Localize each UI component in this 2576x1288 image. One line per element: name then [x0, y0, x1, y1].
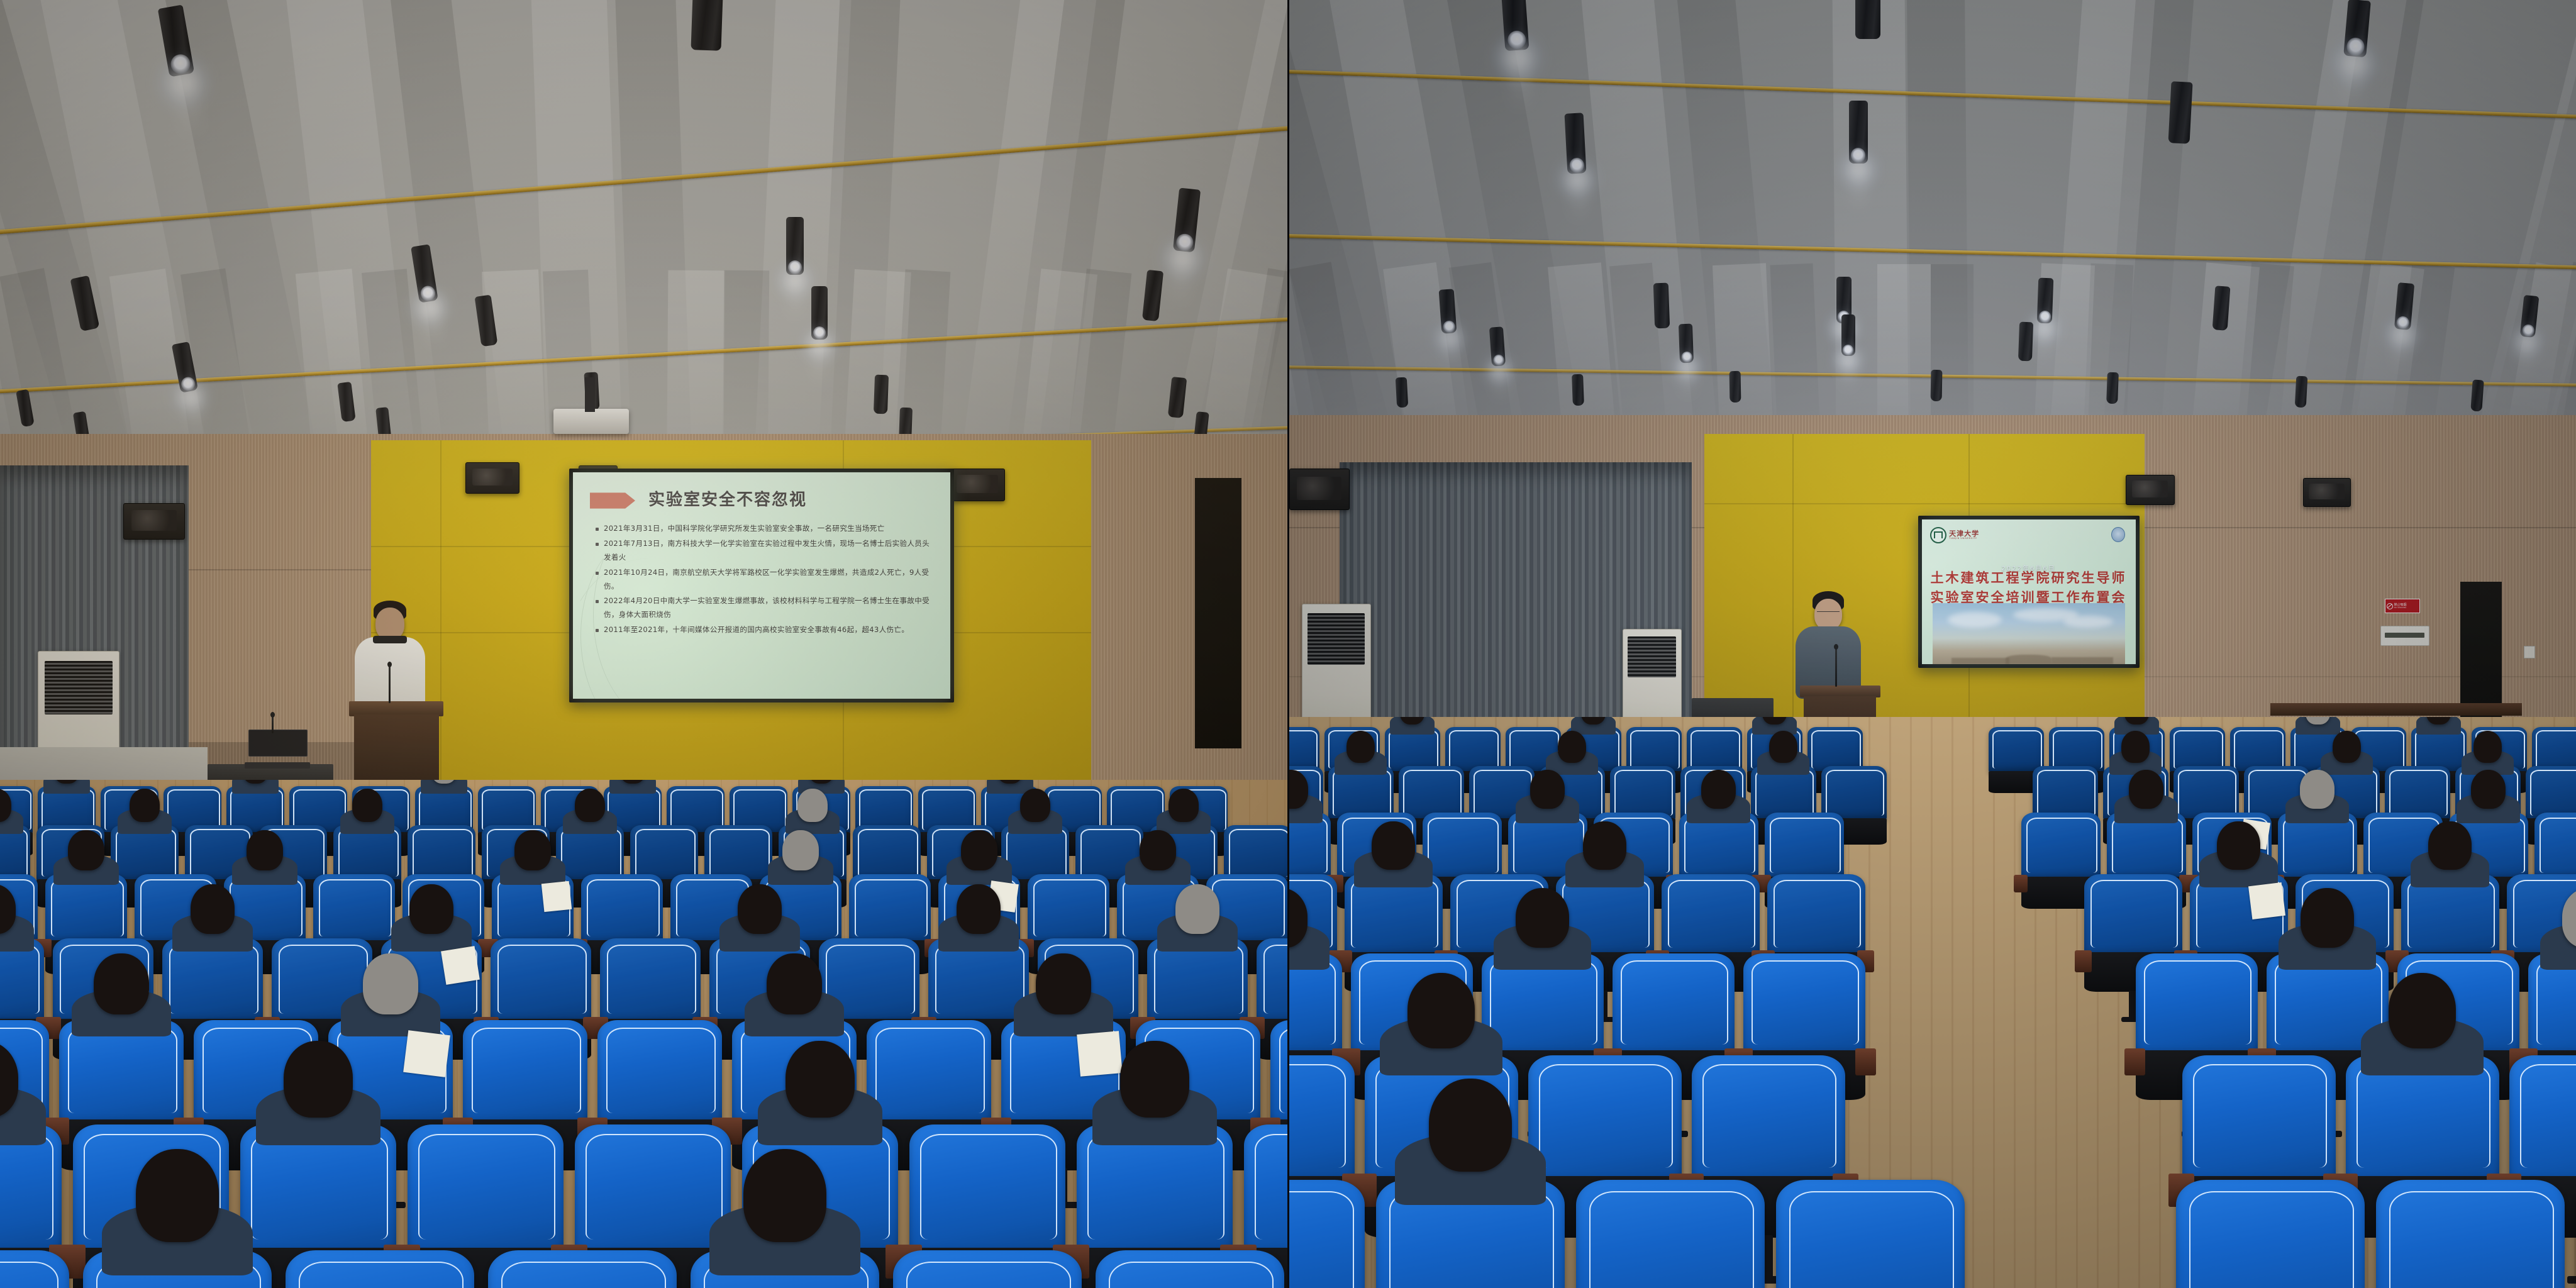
attendee-head [2217, 821, 2260, 870]
downlight-housing [2212, 286, 2230, 331]
downlight-bulb [788, 260, 802, 274]
seat-piping [42, 789, 94, 830]
attendee-head [136, 1149, 219, 1242]
slide-decoration [580, 558, 709, 699]
seat-piping [1033, 879, 1106, 937]
downlight-housing [1729, 371, 1741, 402]
left-room: 实验室安全不容忽视 2021年3月31日，中国科学院化学研究所发生实验室安全事故… [0, 0, 1287, 1288]
downlight-beam [1443, 333, 1458, 373]
seat-piping [2144, 960, 2251, 1044]
downlight-bulb [2038, 311, 2050, 323]
seat-piping [251, 1134, 387, 1240]
seat-piping [935, 945, 1024, 1014]
seat-piping [2193, 1064, 2328, 1168]
seat-piping [1702, 1064, 1837, 1168]
left-wall-speaker [950, 469, 1005, 501]
seat-piping [2112, 818, 2182, 873]
attendee-head [797, 789, 828, 822]
attendee-head [2473, 731, 2502, 763]
auditorium-seat[interactable] [1613, 953, 1735, 1057]
ac-grill [45, 661, 113, 714]
seat-piping [855, 879, 928, 937]
seat-piping [1289, 730, 1318, 769]
seat-piping [2540, 818, 2576, 873]
ceiling-downlight [1729, 371, 1741, 402]
auditorium-seat[interactable] [2021, 813, 2101, 880]
left-projection-screen: 实验室安全不容忽视 2021年3月31日，中国科学院化学研究所发生实验室安全事故… [573, 472, 950, 699]
seat-piping [670, 789, 723, 830]
seat-piping [2536, 730, 2576, 769]
seat-piping [1614, 770, 1673, 815]
university-name-en: TIANJIN UNIVERSITY [1949, 537, 1979, 540]
seat-piping [733, 789, 786, 830]
handout-paper [541, 881, 572, 912]
slide-date: 2022年6月6日 [1922, 563, 2136, 572]
downlight-beam [1493, 365, 1507, 402]
seat-piping [875, 1028, 985, 1113]
downlight-housing [1930, 370, 1942, 401]
downlight-beam [1507, 50, 1532, 113]
attendee-head [2389, 973, 2456, 1048]
seat-piping [1811, 730, 1862, 769]
auditorium-seat[interactable] [0, 1250, 69, 1288]
speaker-collar [373, 636, 407, 643]
secondary-seal-icon [2111, 527, 2125, 542]
auditorium-seat[interactable] [581, 874, 663, 945]
ceiling-downlight [1849, 101, 1868, 164]
downlight-beam [788, 275, 803, 321]
ac-grill [1307, 613, 1365, 665]
seat-piping [2530, 770, 2576, 815]
seat-piping [920, 1134, 1057, 1240]
right-side-table [2270, 703, 2522, 716]
left-projection-screen-frame: 实验室安全不容忽视 2021年3月31日，中国科学院化学研究所发生实验室安全事故… [569, 469, 954, 702]
downlight-housing [2294, 376, 2307, 408]
attendee-head [767, 953, 821, 1015]
left-wall-wood-right [1091, 434, 1288, 824]
attendee-head [352, 789, 382, 822]
seat-piping [1789, 1191, 1954, 1288]
seat-piping [1826, 770, 1884, 815]
ceiling-downlight [786, 217, 804, 275]
seat-piping [906, 1262, 1071, 1288]
ceiling-downlight [2343, 0, 2371, 57]
photo-collage: 实验室安全不容忽视 2021年3月31日，中国科学院化学研究所发生实验室安全事故… [0, 0, 2576, 1288]
seat-piping [482, 789, 534, 830]
right-wall-speaker [1289, 469, 1350, 510]
auditorium-seat[interactable] [2509, 1055, 2576, 1184]
ceiling-downlight [1653, 283, 1669, 329]
seat-piping [1770, 818, 1840, 873]
seat-piping [1229, 829, 1287, 877]
seat-piping [299, 1262, 464, 1288]
seat-piping [1752, 960, 1859, 1044]
right-speaker [1792, 591, 1865, 701]
slide-title-block: 土木建筑工程学院研究生导师 实验室安全培训暨工作布置会 [1931, 569, 2127, 607]
attendee-head [1530, 770, 1565, 809]
left-seating-area [0, 780, 1287, 1288]
ceiling-downlight [811, 286, 828, 340]
downlight-housing [1572, 374, 1584, 406]
speaker-glasses-icon [1817, 611, 1840, 616]
seat-piping [2178, 770, 2236, 815]
attendee-head [743, 1149, 826, 1242]
seat-piping [606, 1028, 716, 1113]
attendee-head [782, 830, 818, 870]
seat-piping [2173, 730, 2224, 769]
left-wall-speaker [123, 503, 185, 540]
no-smoking-sublabel: NO SMOKING [2394, 607, 2407, 609]
attendee-head [1372, 821, 1415, 870]
attendee-head [1020, 789, 1050, 822]
ceiling-downlight [691, 0, 723, 51]
seat-armrest [1855, 1048, 1876, 1075]
seat-piping [586, 1134, 722, 1240]
right-wall-electrical-box [2380, 626, 2429, 646]
attendee-head [1346, 731, 1375, 763]
ceiling-downlight [1930, 370, 1942, 401]
attendee-head [2333, 731, 2362, 763]
attendee-head [2300, 770, 2334, 809]
attendee-head [2129, 770, 2163, 809]
auditorium-seat[interactable] [1776, 1180, 1965, 1288]
seat-piping [0, 829, 28, 877]
attendee-head [957, 884, 1001, 934]
ac-grill [1628, 636, 1676, 677]
downlight-housing [1395, 377, 1407, 408]
auditorium-seat[interactable] [1289, 1180, 1365, 1288]
ceiling-downlight [1855, 0, 1880, 39]
attendee-head [191, 884, 235, 934]
attendee-head [1516, 888, 1569, 948]
seat-piping [472, 1028, 581, 1113]
laptop-base [245, 762, 309, 769]
handout-paper [441, 946, 480, 985]
auditorium-seat[interactable] [1743, 953, 1865, 1057]
attendee-head [247, 830, 282, 870]
university-name: 天津大学 [1949, 530, 1979, 537]
downlight-beam [1569, 173, 1588, 223]
no-smoking-sign: 禁止吸烟 NO SMOKING [2385, 599, 2420, 613]
left-wall-speaker [465, 462, 519, 494]
seat-piping [1289, 818, 1328, 873]
attendee-head [2471, 770, 2506, 809]
downlight-housing [1653, 283, 1669, 329]
seat-piping [2407, 880, 2494, 948]
seat-piping [51, 879, 124, 937]
attendee-head [514, 830, 550, 870]
seat-piping [2415, 730, 2465, 769]
right-room: 禁止吸烟 NO SMOKING 天津大学 TIANJIN UNIVERSITY [1289, 0, 2576, 1288]
seat-piping [587, 879, 660, 937]
slide-lab-safety: 实验室安全不容忽视 2021年3月31日，中国科学院化学研究所发生实验室安全事故… [573, 472, 950, 699]
ceiling-downlight [2036, 278, 2053, 324]
seat-piping [1690, 730, 1741, 769]
attendee-head [575, 789, 605, 822]
right-seating-area [1289, 717, 2576, 1288]
auditorium-seat[interactable] [463, 1020, 587, 1126]
seat-piping [2026, 818, 2097, 873]
auditorium-seat[interactable] [1576, 1180, 1765, 1288]
seat-piping [1279, 1028, 1287, 1113]
attendee-head [738, 884, 782, 934]
auditorium-seat[interactable] [2534, 813, 2576, 880]
attendee-head [1407, 973, 1475, 1048]
seat-piping [1087, 1134, 1224, 1240]
ceiling-downlight [2168, 81, 2192, 144]
seat-piping [68, 1028, 177, 1113]
ceiling-downlight [2294, 376, 2307, 408]
projector-mount [585, 377, 595, 412]
ceiling-downlight [2106, 372, 2119, 404]
attendee-head [1558, 731, 1587, 763]
auditorium-seat[interactable] [1244, 1124, 1287, 1255]
seat-piping [1428, 818, 1498, 873]
auditorium-seat[interactable] [1270, 1020, 1287, 1126]
seat-foot [2567, 1276, 2576, 1284]
auditorium-seat[interactable] [893, 1250, 1082, 1288]
ceiling-downlight [1489, 326, 1505, 366]
downlight-housing [2106, 372, 2119, 404]
auditorium-seat[interactable] [600, 938, 701, 1024]
handout-paper [1077, 1031, 1123, 1077]
seat-piping [497, 945, 587, 1014]
seat-piping [1111, 789, 1163, 830]
no-smoking-icon [2387, 603, 2393, 609]
seat-piping [1289, 960, 1336, 1044]
seat-piping [607, 945, 696, 1014]
seat-piping [338, 829, 399, 877]
seat-piping [2189, 1191, 2354, 1288]
seat-piping [1630, 730, 1680, 769]
ceiling-downlight [1678, 324, 1693, 364]
auditorium-seat[interactable] [1767, 874, 1865, 957]
attendee-head [2121, 731, 2150, 763]
attendee-head [409, 884, 453, 934]
slide-title-chevron [590, 492, 635, 508]
auditorium-seat[interactable] [597, 1020, 722, 1126]
left-photo: 实验室安全不容忽视 2021年3月31日，中国科学院化学研究所发生实验室安全事故… [0, 0, 1289, 1288]
seat-piping [319, 879, 392, 937]
auditorium-seat[interactable] [1096, 1250, 1284, 1288]
attendee-head [1175, 884, 1219, 934]
handout-paper [403, 1030, 450, 1077]
seat-piping [1589, 1191, 1754, 1288]
seat-piping [561, 829, 622, 877]
seat-piping [635, 829, 696, 877]
slide-meeting-title: 天津大学 TIANJIN UNIVERSITY 土木建筑工程学院研究生导师 实验… [1922, 519, 2136, 664]
auditorium-seat[interactable] [2176, 1180, 2365, 1288]
auditorium-seat[interactable] [1028, 874, 1109, 945]
attendee-head [94, 953, 148, 1015]
attendee-head [1701, 770, 1736, 809]
auditorium-seat[interactable] [2136, 953, 2258, 1057]
seat-piping [1255, 1134, 1287, 1240]
seat-piping [419, 789, 471, 830]
attendee-head [130, 789, 160, 822]
ceiling-downlight [1841, 314, 1855, 356]
ceiling-downlight [1564, 113, 1586, 174]
seat-piping [1263, 945, 1287, 1014]
right-projection-screen-frame: 天津大学 TIANJIN UNIVERSITY 土木建筑工程学院研究生导师 实验… [1918, 516, 2140, 668]
ceiling-downlight [1501, 0, 1529, 51]
seat-piping [293, 789, 345, 830]
downlight-housing [874, 375, 889, 414]
seat-piping [501, 1262, 666, 1288]
attendee-head [1769, 731, 1798, 763]
auditorium-seat[interactable] [1765, 813, 1844, 880]
auditorium-seat[interactable] [1692, 1055, 1845, 1184]
attendee-head [1583, 821, 1626, 870]
seat-piping [0, 1134, 53, 1240]
downlight-beam [813, 340, 827, 382]
right-wall-switch [2524, 646, 2535, 658]
attendee-head [961, 830, 997, 870]
seat-piping [2536, 960, 2576, 1044]
laptop-lid [248, 730, 308, 757]
right-wall-speaker [2126, 475, 2175, 505]
ceiling-downlight [874, 375, 889, 414]
left-side-doorway [1195, 478, 1241, 748]
seat-piping [1351, 880, 1438, 948]
downlight-housing [1855, 0, 1880, 39]
seat-piping [1755, 770, 1814, 815]
attendee-head [363, 953, 418, 1015]
left-table-microphone [272, 716, 274, 733]
auditorium-seat[interactable] [1289, 1055, 1355, 1184]
attendee-head [1036, 953, 1091, 1015]
downlight-beam [2036, 323, 2051, 363]
seat-piping [1621, 960, 1728, 1044]
seat-armrest [2124, 1048, 2145, 1075]
ceiling-downlight [1395, 377, 1407, 408]
auditorium-seat[interactable] [2376, 1180, 2565, 1288]
seat-piping [1490, 960, 1597, 1044]
seat-piping [413, 829, 474, 877]
auditorium-seat[interactable] [286, 1250, 474, 1288]
auditorium-seat[interactable] [575, 1124, 731, 1255]
auditorium-seat[interactable] [488, 1250, 677, 1288]
attendee-head [284, 1041, 352, 1118]
seat-piping [418, 1134, 555, 1240]
attendee-head [2301, 888, 2354, 948]
seat-piping [1389, 1191, 1554, 1288]
auditorium-seat[interactable] [2084, 874, 2182, 957]
downlight-housing [2018, 322, 2033, 362]
right-projection-screen: 天津大学 TIANJIN UNIVERSITY 土木建筑工程学院研究生导师 实验… [1922, 519, 2136, 664]
seat-piping [709, 829, 770, 877]
wall-seam [1704, 503, 2145, 504]
seat-piping [1403, 770, 1462, 815]
attendee-head [1140, 830, 1175, 870]
seat-piping [167, 789, 219, 830]
auditorium-seat[interactable] [2182, 1055, 2336, 1184]
ceiling-downlight [2018, 322, 2033, 362]
right-photo: 禁止吸烟 NO SMOKING 天津大学 TIANJIN UNIVERSITY [1289, 0, 2576, 1288]
seat-piping [1774, 880, 1860, 948]
seat-piping [922, 789, 974, 830]
downlight-beam [1843, 356, 1855, 392]
ceiling-downlight [1438, 289, 1457, 334]
attendee-head [1429, 1079, 1512, 1172]
seat-piping [859, 789, 911, 830]
seat-piping [1154, 945, 1243, 1014]
downlight-beam [1851, 164, 1867, 213]
ceiling-downlight [1572, 374, 1584, 406]
attendee-head [1169, 789, 1199, 822]
seat-piping [2520, 1064, 2576, 1168]
university-emblem-icon [1930, 527, 1946, 543]
auditorium-seat[interactable] [491, 938, 591, 1024]
seat-piping [2037, 770, 2096, 815]
slide-bullet: 2021年3月31日，中国科学院化学研究所发生实验室安全事故，一名研究生当场死亡 [596, 522, 935, 536]
auditorium-seat[interactable] [1662, 874, 1760, 957]
auditorium-seat[interactable] [849, 874, 931, 945]
attendee-head [1120, 1041, 1189, 1118]
seat-armrest [2014, 875, 2027, 892]
auditorium-seat[interactable] [1423, 813, 1502, 880]
seat-piping [1006, 829, 1067, 877]
seat-piping [2389, 1191, 2554, 1288]
seat-piping [858, 829, 919, 877]
seat-piping [0, 945, 40, 1014]
attendee-head [2428, 821, 2472, 870]
ceiling-downlight [2470, 379, 2484, 411]
seat-piping [2389, 770, 2448, 815]
seat-piping [169, 945, 258, 1014]
left-microphone [389, 665, 391, 703]
auditorium-seat[interactable] [313, 874, 395, 945]
right-microphone [1835, 648, 1837, 687]
attendee-head [68, 830, 104, 870]
seat-piping [1109, 1262, 1274, 1288]
seat-piping [1333, 770, 1391, 815]
seat-piping [1539, 1064, 1674, 1168]
seat-piping [2357, 1064, 2491, 1168]
ceiling-downlight [2212, 286, 2230, 331]
seat-piping [1684, 818, 1755, 873]
attendee-head [786, 1041, 854, 1118]
seat-piping [116, 829, 177, 877]
seat-piping [1289, 1064, 1346, 1168]
auditorium-seat[interactable] [1257, 938, 1287, 1024]
seat-piping [1668, 880, 1755, 948]
left-projector [553, 409, 629, 434]
seat-piping [2283, 818, 2353, 873]
seat-piping [1992, 730, 2043, 769]
seat-piping [2234, 730, 2284, 769]
auditorium-seat[interactable] [867, 1020, 991, 1126]
seat-armrest [2075, 950, 2092, 972]
downlight-beam [1681, 363, 1694, 399]
downlight-housing [2168, 81, 2192, 144]
university-logo: 天津大学 TIANJIN UNIVERSITY [1930, 527, 1979, 543]
slide-photo-band [1933, 603, 2125, 664]
downlight-housing [2470, 379, 2484, 411]
handout-paper [2248, 882, 2285, 919]
seat-piping [1449, 730, 1499, 769]
downlight-bulb [1851, 148, 1865, 162]
seat-piping [2090, 880, 2177, 948]
seat-piping [230, 789, 282, 830]
downlight-housing [691, 0, 723, 51]
seat-piping [1389, 730, 1439, 769]
slide-title: 实验室安全不容忽视 [648, 487, 807, 510]
auditorium-seat[interactable] [408, 1124, 563, 1255]
seat-piping [1289, 1191, 1354, 1288]
auditorium-seat[interactable] [909, 1124, 1065, 1255]
auditorium-seat[interactable] [1528, 1055, 1682, 1184]
